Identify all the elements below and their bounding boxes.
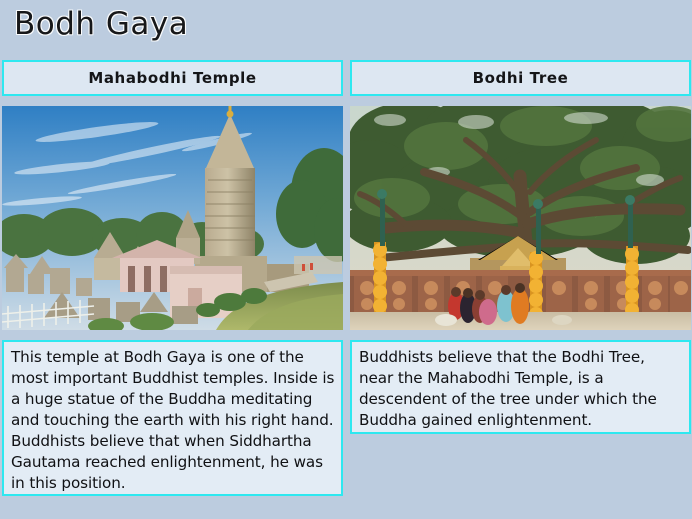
photo-bodhi-tree — [350, 106, 691, 330]
slide: Bodh Gaya Mahabodhi Temple — [0, 0, 692, 519]
description-box-bodhi-tree: Buddhists believe that the Bodhi Tree, n… — [350, 340, 691, 434]
caption-box-mahabodhi-temple: Mahabodhi Temple — [2, 60, 343, 96]
mahabodhi-temple-illustration — [2, 106, 343, 330]
column-bodhi-tree: Bodhi Tree — [350, 60, 691, 434]
description-box-mahabodhi-temple: This temple at Bodh Gaya is one of the m… — [2, 340, 343, 496]
caption-label: Bodhi Tree — [473, 69, 569, 87]
caption-label: Mahabodhi Temple — [88, 69, 256, 87]
page-title: Bodh Gaya — [14, 6, 188, 42]
bodhi-tree-illustration — [350, 106, 691, 330]
column-mahabodhi-temple: Mahabodhi Temple — [2, 60, 343, 496]
description-text: This temple at Bodh Gaya is one of the m… — [11, 347, 335, 494]
description-text: Buddhists believe that the Bodhi Tree, n… — [359, 347, 683, 431]
caption-box-bodhi-tree: Bodhi Tree — [350, 60, 691, 96]
photo-mahabodhi-temple — [2, 106, 343, 330]
